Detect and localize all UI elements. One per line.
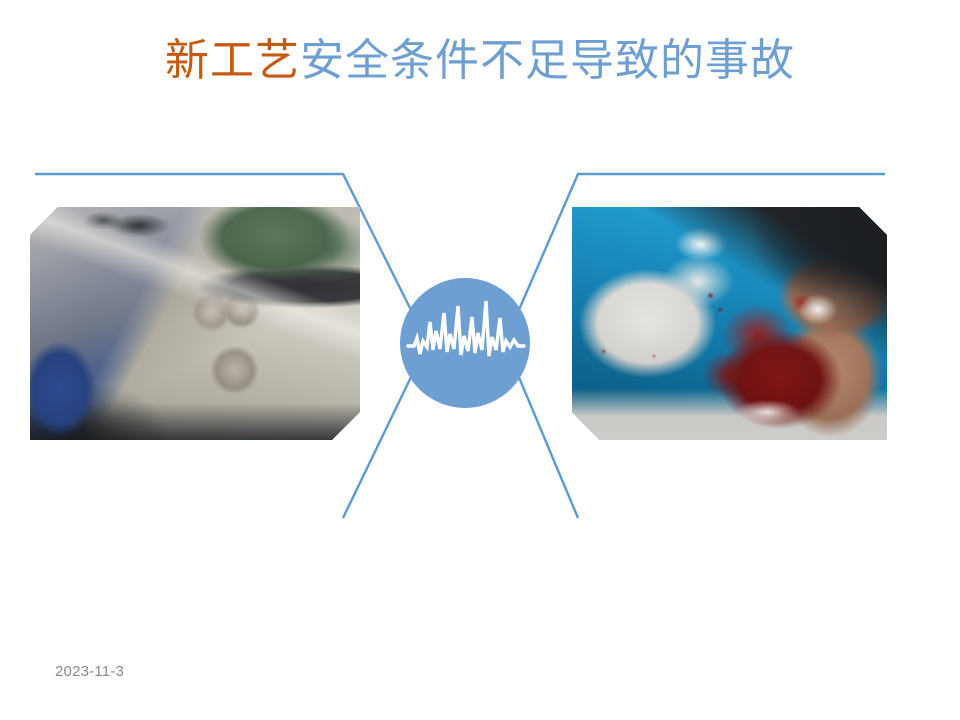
page-title: 新工艺安全条件不足导致的事故 bbox=[0, 33, 960, 89]
slide-canvas: 新工艺安全条件不足导致的事故 2023-11-3 bbox=[0, 0, 960, 720]
photo-right-injury bbox=[572, 207, 887, 440]
photo-left-image bbox=[30, 207, 360, 440]
photo-left-workshop bbox=[30, 207, 360, 440]
title-segment-rest: 安全条件不足导致的事故 bbox=[300, 35, 795, 86]
center-node-circle[interactable] bbox=[400, 278, 530, 408]
connector-bottom-right bbox=[518, 375, 578, 518]
slide-date: 2023-11-3 bbox=[55, 663, 124, 680]
photo-right-image bbox=[572, 207, 887, 440]
ecg-waveform-icon bbox=[408, 301, 524, 356]
title-segment-highlight: 新工艺 bbox=[165, 35, 300, 86]
